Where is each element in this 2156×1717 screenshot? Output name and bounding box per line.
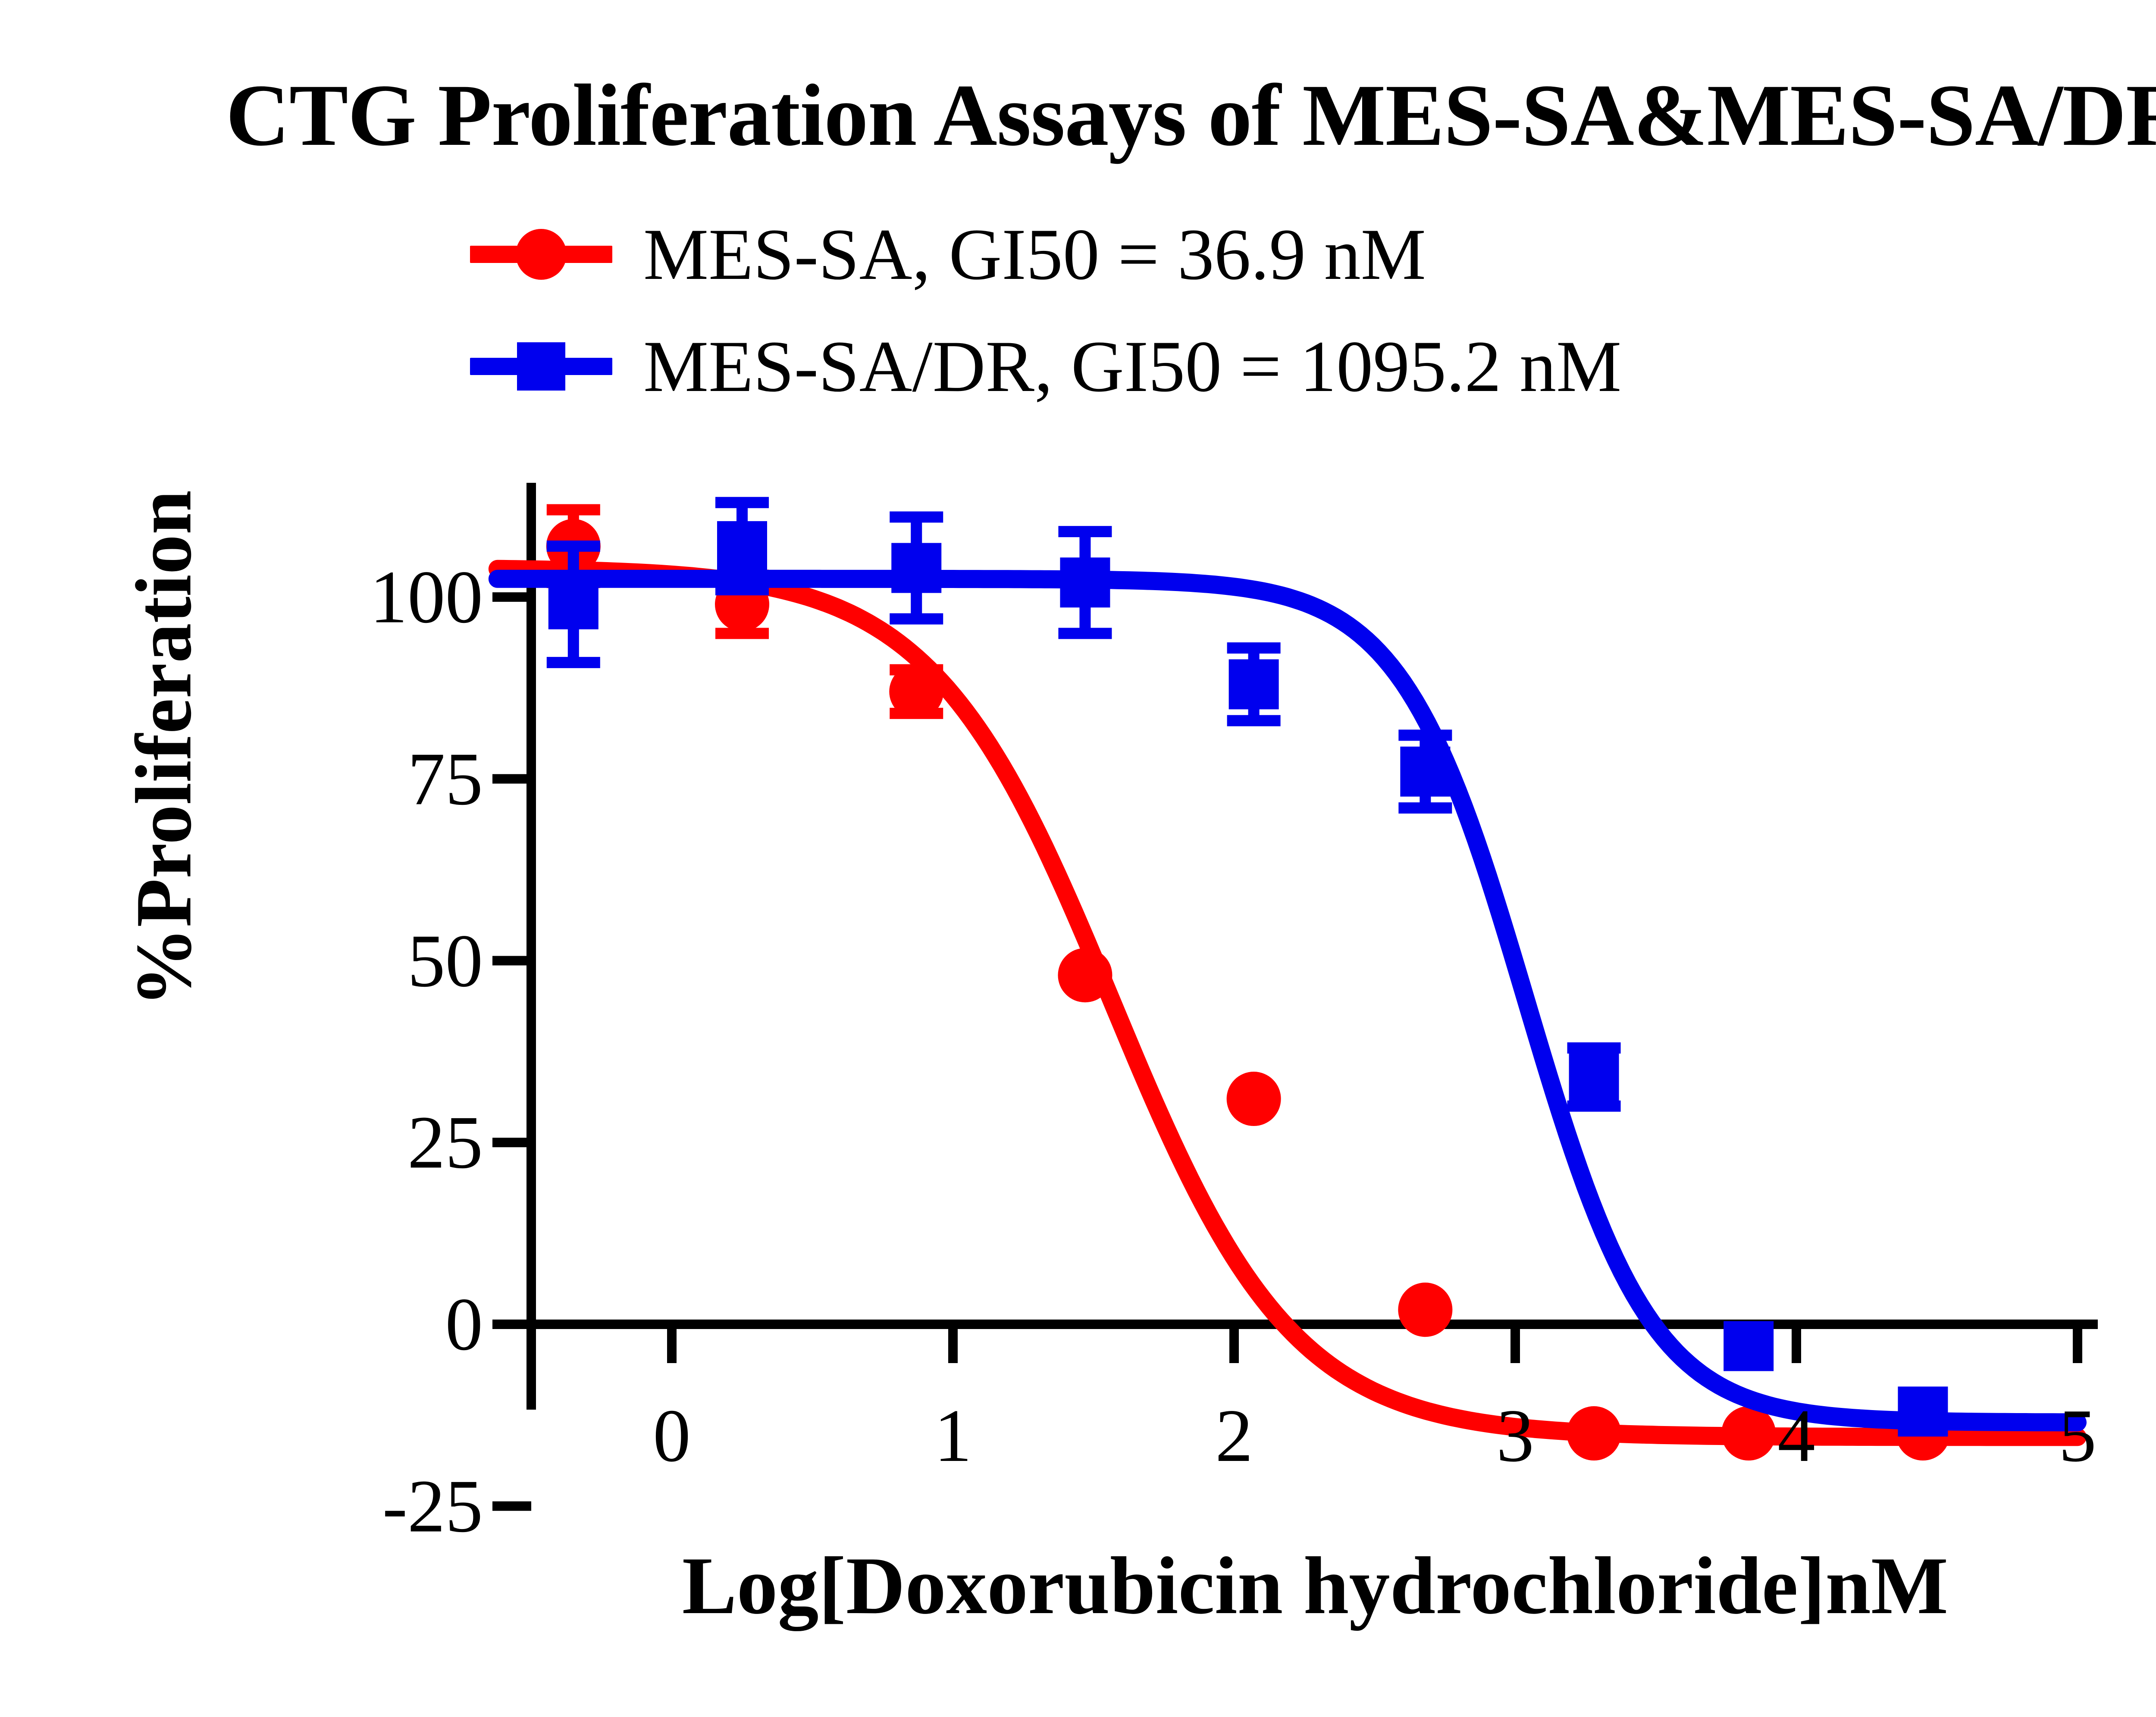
data-point bbox=[1898, 1386, 1948, 1436]
data-point bbox=[717, 521, 767, 571]
x-tick-label: 4 bbox=[1777, 1392, 1815, 1479]
data-point bbox=[548, 579, 599, 629]
x-tick-label: 0 bbox=[653, 1392, 691, 1479]
data-point bbox=[1721, 1406, 1776, 1461]
series-2 bbox=[498, 503, 2078, 1437]
data-point bbox=[1569, 1052, 1619, 1102]
data-point bbox=[1060, 557, 1110, 607]
x-tick-label: 1 bbox=[934, 1392, 972, 1479]
y-tick-label: -25 bbox=[241, 1463, 483, 1549]
data-point bbox=[1398, 1282, 1452, 1337]
y-tick-label: 50 bbox=[241, 917, 483, 1004]
data-point bbox=[1229, 659, 1279, 709]
data-point bbox=[891, 543, 941, 593]
plot-area: %Proliferation Log[Doxorubicin hydrochlo… bbox=[0, 0, 2156, 1715]
plot-svg bbox=[0, 0, 2156, 1715]
data-point bbox=[1227, 1072, 1281, 1126]
series-1 bbox=[498, 510, 2078, 1461]
y-tick-label: 75 bbox=[241, 735, 483, 822]
x-tick-label: 5 bbox=[2059, 1392, 2096, 1479]
x-tick-label: 3 bbox=[1496, 1392, 1534, 1479]
y-axis-label: %Proliferation bbox=[118, 318, 210, 1180]
y-tick-label: 0 bbox=[241, 1281, 483, 1368]
y-tick-label: 100 bbox=[241, 554, 483, 641]
data-point bbox=[1724, 1321, 1774, 1371]
y-tick-label: 25 bbox=[241, 1099, 483, 1186]
data-point bbox=[1400, 747, 1450, 797]
data-point bbox=[1567, 1406, 1621, 1461]
data-point bbox=[889, 664, 943, 719]
x-axis-label: Log[Doxorubicin hydrochloride]nM bbox=[474, 1539, 2156, 1633]
data-point bbox=[1058, 948, 1112, 1002]
x-tick-label: 2 bbox=[1215, 1392, 1253, 1479]
